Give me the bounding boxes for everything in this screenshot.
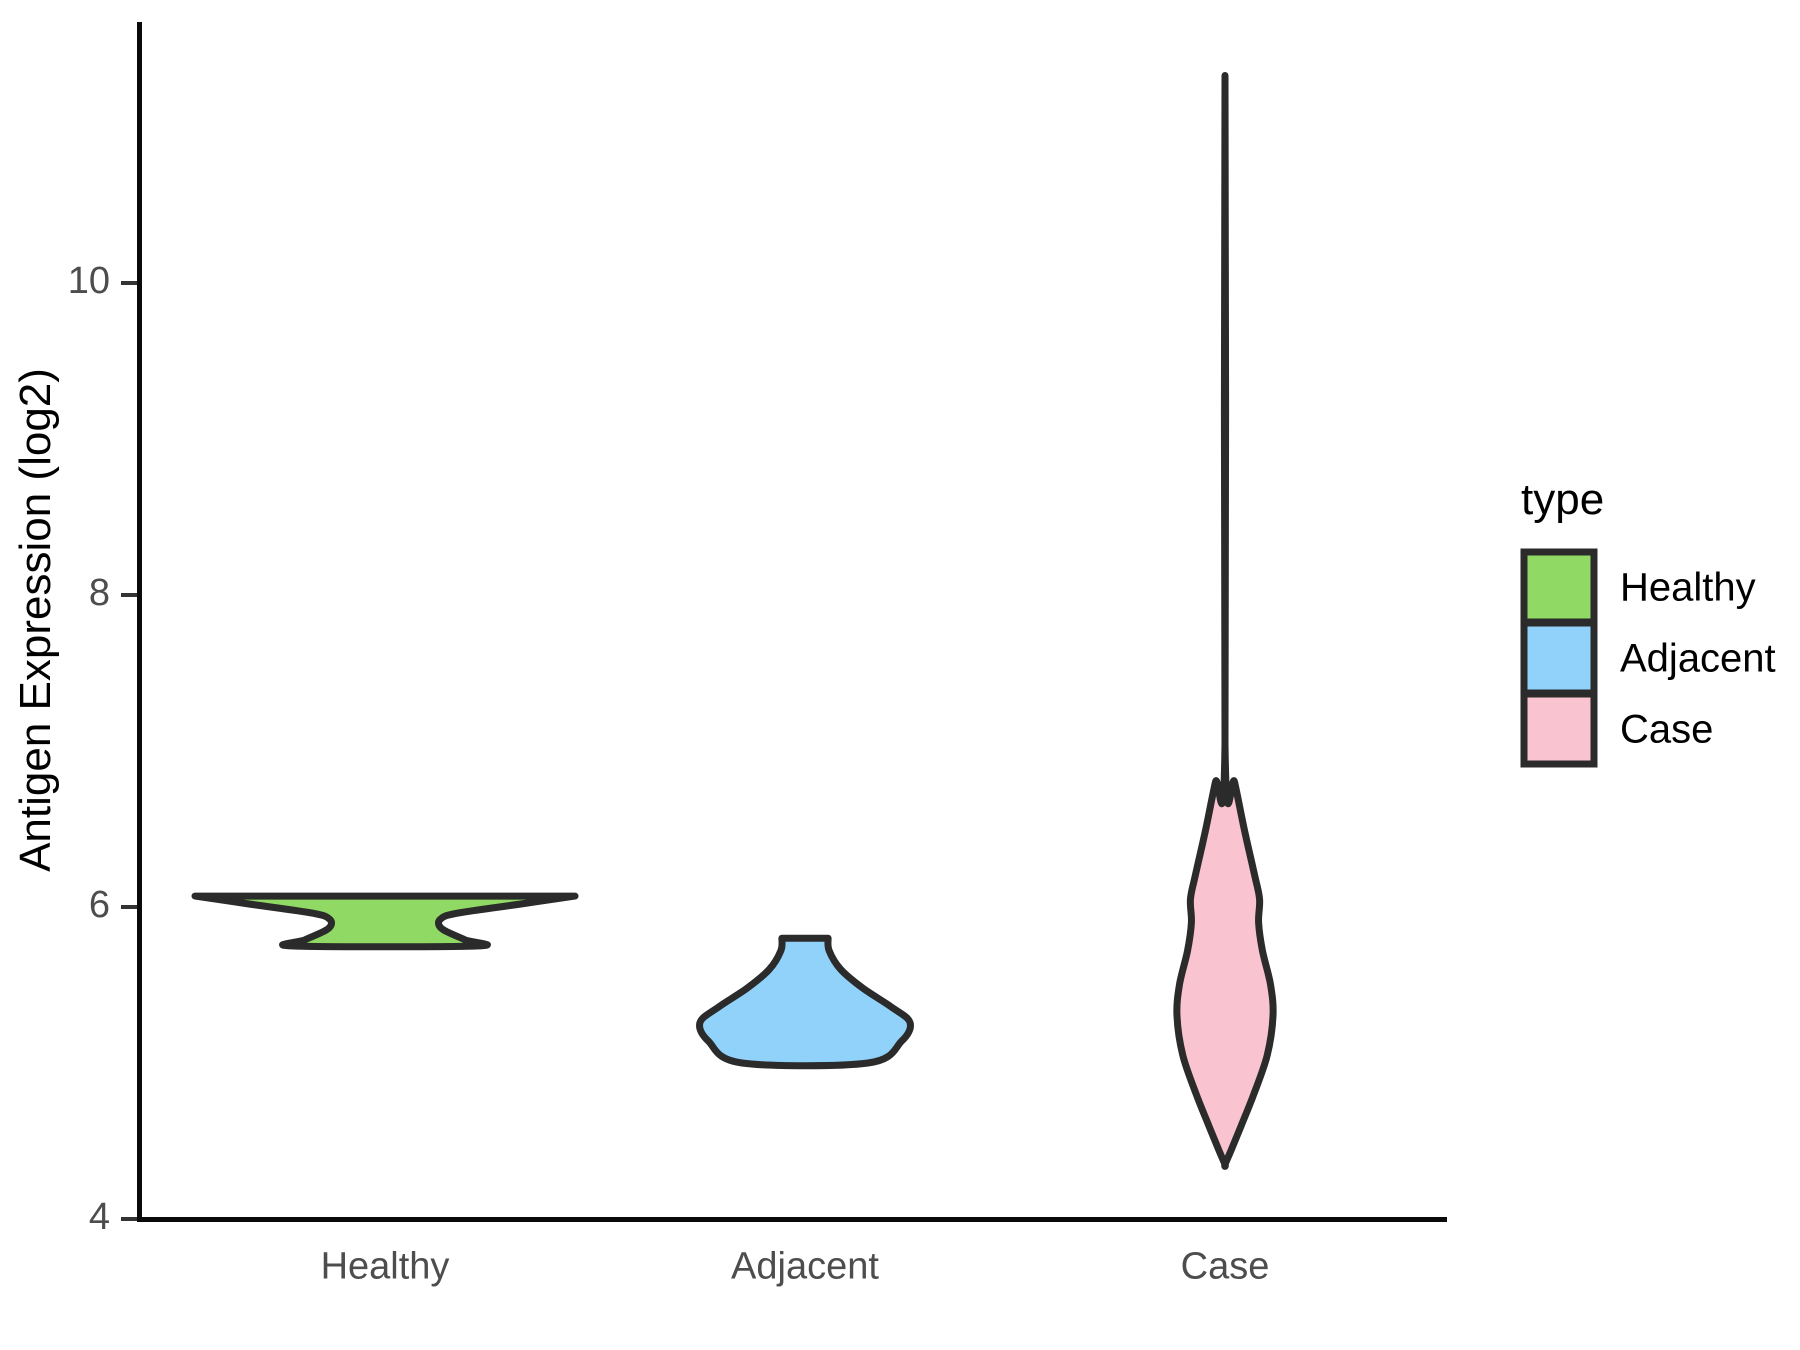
y-tick-label-10: 10: [68, 260, 110, 302]
legend-swatch-case[interactable]: [1524, 694, 1594, 764]
legend: type Healthy Adjacent Case: [1521, 475, 1776, 764]
violin-plot-figure: 10 8 6 4 Healthy Adjacent Case Antigen E…: [0, 0, 1800, 1350]
legend-label-healthy: Healthy: [1620, 566, 1756, 610]
chart-canvas: 10 8 6 4 Healthy Adjacent Case Antigen E…: [0, 0, 1800, 1350]
x-tick-label-healthy: Healthy: [321, 1245, 450, 1287]
y-tick-label-6: 6: [89, 884, 110, 926]
x-tick-label-adjacent: Adjacent: [731, 1245, 879, 1287]
x-tick-label-case: Case: [1181, 1245, 1270, 1287]
legend-swatch-healthy[interactable]: [1524, 552, 1594, 622]
legend-label-case: Case: [1620, 708, 1713, 752]
legend-swatch-adjacent[interactable]: [1524, 623, 1594, 693]
y-axis-title: Antigen Expression (log2): [11, 368, 60, 872]
legend-label-adjacent: Adjacent: [1620, 637, 1776, 681]
legend-title: type: [1521, 475, 1604, 524]
legend-item-healthy[interactable]: Healthy: [1524, 552, 1756, 622]
y-tick-label-8: 8: [89, 572, 110, 614]
legend-item-adjacent[interactable]: Adjacent: [1524, 623, 1776, 693]
y-tick-label-4: 4: [89, 1196, 110, 1238]
legend-item-case[interactable]: Case: [1524, 694, 1713, 764]
